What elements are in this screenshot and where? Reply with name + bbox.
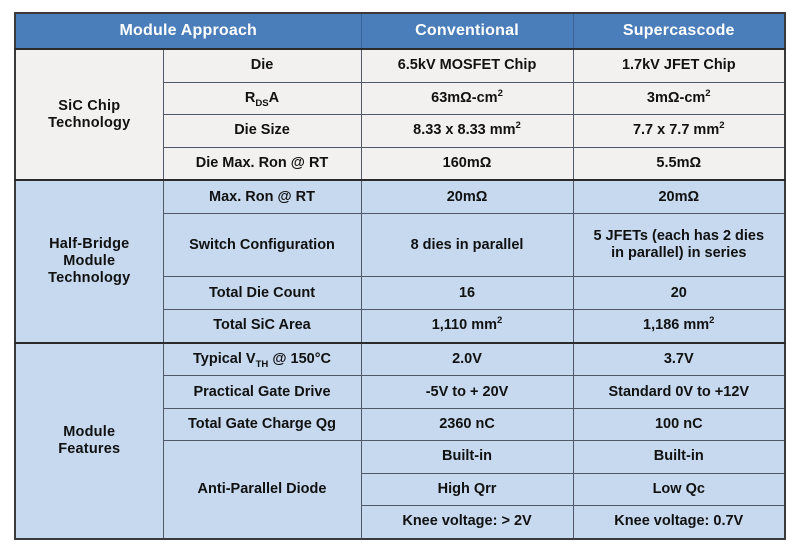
value-supercascode-total-die-count: 20 [573,277,785,309]
param-rdsa-subscript: DS [255,98,268,109]
value-supercascode-total-gate-charge: 100 nC [573,408,785,440]
value-conventional-diode-knee-voltage: Knee voltage: > 2V [361,506,573,539]
value-supercascode-diode-builtin: Built-in [573,441,785,473]
value-conventional-total-sic-area: 1,110 mm2 [361,309,573,342]
group-label-line: SiC Chip [20,98,159,115]
value-conventional-typical-vth: 2.0V [361,343,573,376]
value-conventional-practical-gate-drive: -5V to + 20V [361,376,573,408]
value-conventional-die-size: 8.33 x 8.33 mm2 [361,115,573,147]
value-conventional-die: 6.5kV MOSFET Chip [361,49,573,82]
group-label-line: Technology [20,270,159,287]
param-die: Die [163,49,361,82]
group-label-module-features: Module Features [15,343,163,539]
param-rdsa-tail: A [269,90,279,106]
value-supercascode-diode-knee-voltage: Knee voltage: 0.7V [573,506,785,539]
value-supercascode-typical-vth: 3.7V [573,343,785,376]
value-supercascode-die: 1.7kV JFET Chip [573,49,785,82]
param-total-gate-charge-qg: Total Gate Charge Qg [163,408,361,440]
superscript: 2 [497,315,502,326]
param-practical-gate-drive: Practical Gate Drive [163,376,361,408]
value-supercascode-die-max-ron: 5.5mΩ [573,147,785,180]
value-supercascode-rdsa: 3mΩ-cm2 [573,82,785,114]
param-switch-configuration: Switch Configuration [163,214,361,277]
value-text: 63mΩ-cm [431,90,497,106]
value-supercascode-diode-qc: Low Qc [573,473,785,505]
superscript: 2 [709,315,714,326]
group-label-sic-chip-technology: SiC Chip Technology [15,49,163,180]
param-die-size: Die Size [163,115,361,147]
param-rdsa-base: R [245,90,255,106]
value-text: 7.7 x 7.7 mm [633,122,719,138]
header-conventional: Conventional [361,13,573,49]
group-label-half-bridge-module-technology: Half-Bridge Module Technology [15,180,163,342]
value-conventional-switch-configuration: 8 dies in parallel [361,214,573,277]
param-total-die-count: Total Die Count [163,277,361,309]
param-typical-vth: Typical VTH @ 150°C [163,343,361,376]
group-label-line: Technology [20,115,159,132]
value-conventional-rdsa: 63mΩ-cm2 [361,82,573,114]
value-supercascode-total-sic-area: 1,186 mm2 [573,309,785,342]
param-vth-subscript: TH [256,359,269,370]
superscript: 2 [719,121,724,132]
comparison-table-container: Module Approach Conventional Supercascod… [14,12,784,540]
value-conventional-diode-builtin: Built-in [361,441,573,473]
value-text: 3mΩ-cm [647,90,705,106]
param-rdsa: RDSA [163,82,361,114]
param-max-ron-rt: Max. Ron @ RT [163,180,361,213]
table-header-row: Module Approach Conventional Supercascod… [15,13,785,49]
value-conventional-diode-qrr: High Qrr [361,473,573,505]
param-vth-tail: @ 150°C [268,351,331,367]
param-vth-base: Typical V [193,351,256,367]
superscript: 2 [516,121,521,132]
table-row: SiC Chip Technology Die 6.5kV MOSFET Chi… [15,49,785,82]
value-supercascode-die-size: 7.7 x 7.7 mm2 [573,115,785,147]
value-text: 1,110 mm [432,317,497,333]
value-conventional-total-die-count: 16 [361,277,573,309]
value-line: 5 JFETs (each has 2 dies [578,228,781,245]
param-anti-parallel-diode: Anti-Parallel Diode [163,441,361,539]
value-supercascode-switch-configuration: 5 JFETs (each has 2 dies in parallel) in… [573,214,785,277]
superscript: 2 [705,88,710,99]
group-label-line: Features [20,441,159,458]
value-supercascode-max-ron: 20mΩ [573,180,785,213]
superscript: 2 [498,88,503,99]
value-supercascode-practical-gate-drive: Standard 0V to +12V [573,376,785,408]
value-conventional-die-max-ron: 160mΩ [361,147,573,180]
table-row: Half-Bridge Module Technology Max. Ron @… [15,180,785,213]
group-label-line: Module [20,253,159,270]
header-module-approach: Module Approach [15,13,361,49]
table-row: Module Features Typical VTH @ 150°C 2.0V… [15,343,785,376]
param-total-sic-area: Total SiC Area [163,309,361,342]
module-approach-comparison-table: Module Approach Conventional Supercascod… [14,12,786,540]
value-conventional-total-gate-charge: 2360 nC [361,408,573,440]
value-conventional-max-ron: 20mΩ [361,180,573,213]
group-label-line: Module [20,424,159,441]
value-line: in parallel) in series [578,245,781,262]
group-label-line: Half-Bridge [20,236,159,253]
header-supercascode: Supercascode [573,13,785,49]
value-text: 1,186 mm [643,317,709,333]
param-die-max-ron-rt: Die Max. Ron @ RT [163,147,361,180]
value-text: 8.33 x 8.33 mm [413,122,515,138]
